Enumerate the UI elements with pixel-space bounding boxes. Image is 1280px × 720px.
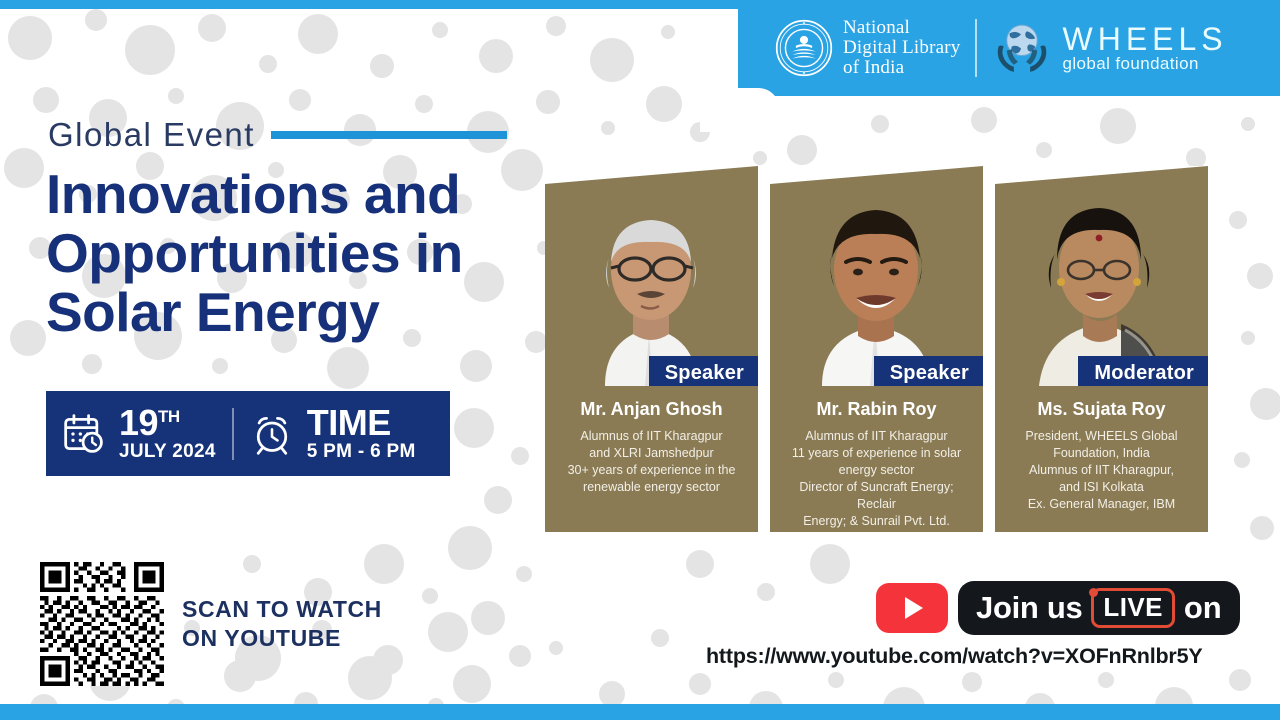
ndl-seal-icon bbox=[775, 19, 833, 77]
play-triangle-icon bbox=[905, 597, 923, 619]
speaker-description: President, WHEELS Global Foundation, Ind… bbox=[1005, 428, 1198, 513]
ndl-logo: National Digital Library of India bbox=[775, 18, 961, 78]
youtube-icon[interactable] bbox=[876, 583, 948, 633]
kicker-row: Global Event bbox=[48, 116, 507, 154]
portrait-rabin-roy bbox=[770, 166, 983, 386]
ndl-line-2: Digital Library bbox=[843, 38, 961, 58]
speaker-badge: Speaker bbox=[874, 356, 983, 386]
speaker-card: Speaker Mr. Rabin Roy Alumnus of IIT Kha… bbox=[770, 166, 983, 532]
date-text: 19 TH JULY 2024 bbox=[119, 405, 216, 463]
wheels-title: WHEELS bbox=[1063, 24, 1228, 54]
moderator-badge: Moderator bbox=[1078, 356, 1208, 386]
speaker-card: Moderator Ms. Sujata Roy President, WHEE… bbox=[995, 166, 1208, 532]
date-day: 19 bbox=[119, 405, 158, 441]
speaker-info: Ms. Sujata Roy President, WHEELS Global … bbox=[995, 386, 1208, 532]
wheels-logo: WHEELS global foundation bbox=[991, 20, 1228, 76]
time-block: TIME 5 PM - 6 PM bbox=[234, 405, 432, 463]
speaker-name: Mr. Anjan Ghosh bbox=[555, 399, 748, 420]
date-suffix: TH bbox=[158, 405, 180, 426]
qr-caption-line-1: SCAN TO WATCH bbox=[182, 595, 382, 624]
live-badge: LIVE bbox=[1091, 588, 1174, 628]
speaker-info: Mr. Rabin Roy Alumnus of IIT Kharagpur 1… bbox=[770, 386, 983, 532]
qr-section: SCAN TO WATCH ON YOUTUBE bbox=[40, 562, 382, 686]
calendar-icon bbox=[62, 412, 106, 456]
join-us-label: Join us bbox=[976, 590, 1082, 626]
speaker-photo: Speaker bbox=[770, 166, 983, 386]
speaker-photo: Moderator bbox=[995, 166, 1208, 386]
portrait-anjan-ghosh bbox=[545, 166, 758, 386]
time-text: TIME 5 PM - 6 PM bbox=[307, 405, 416, 463]
speaker-name: Ms. Sujata Roy bbox=[1005, 399, 1198, 420]
date-month-year: JULY 2024 bbox=[119, 441, 216, 463]
date-block: 19 TH JULY 2024 bbox=[46, 405, 232, 463]
speaker-cards: Speaker Mr. Anjan Ghosh Alumnus of IIT K… bbox=[545, 166, 1208, 532]
globe-in-hands-icon bbox=[991, 20, 1053, 76]
speaker-description: Alumnus of IIT Kharagpur 11 years of exp… bbox=[780, 428, 973, 530]
alarm-clock-icon bbox=[250, 412, 294, 456]
qr-caption-line-2: ON YOUTUBE bbox=[182, 624, 382, 653]
kicker-underline bbox=[271, 131, 507, 139]
speaker-photo: Speaker bbox=[545, 166, 758, 386]
speaker-badge: Speaker bbox=[649, 356, 758, 386]
top-blue-strip bbox=[0, 0, 1280, 9]
page-title: Innovations and Opportunities in Solar E… bbox=[46, 165, 566, 342]
event-poster: National Digital Library of India WHEELS… bbox=[0, 0, 1280, 720]
youtube-cta-row[interactable]: Join us LIVE on bbox=[876, 581, 1240, 635]
schedule-bar: 19 TH JULY 2024 TIME 5 PM - 6 PM bbox=[46, 391, 450, 476]
ndl-line-3: of India bbox=[843, 58, 961, 78]
panel-rounded-corner bbox=[700, 88, 780, 132]
time-label: TIME bbox=[307, 405, 416, 441]
logo-divider bbox=[975, 19, 977, 77]
bottom-blue-strip bbox=[0, 704, 1280, 720]
wheels-logo-text: WHEELS global foundation bbox=[1063, 24, 1228, 73]
speaker-info: Mr. Anjan Ghosh Alumnus of IIT Kharagpur… bbox=[545, 386, 758, 532]
on-label: on bbox=[1184, 590, 1222, 626]
ndl-line-1: National bbox=[843, 18, 961, 38]
speaker-name: Mr. Rabin Roy bbox=[780, 399, 973, 420]
date-day-row: 19 TH bbox=[119, 405, 216, 441]
join-live-pill[interactable]: Join us LIVE on bbox=[958, 581, 1240, 635]
header-logos: National Digital Library of India WHEELS… bbox=[775, 10, 1228, 86]
qr-caption: SCAN TO WATCH ON YOUTUBE bbox=[182, 595, 382, 653]
time-range: 5 PM - 6 PM bbox=[307, 441, 416, 463]
speaker-card: Speaker Mr. Anjan Ghosh Alumnus of IIT K… bbox=[545, 166, 758, 532]
speaker-description: Alumnus of IIT Kharagpur and XLRI Jamshe… bbox=[555, 428, 748, 496]
portrait-sujata-roy bbox=[995, 166, 1208, 386]
kicker-label: Global Event bbox=[48, 116, 255, 154]
youtube-url[interactable]: https://www.youtube.com/watch?v=XOFnRnlb… bbox=[706, 644, 1203, 669]
qr-code[interactable] bbox=[40, 562, 164, 686]
ndl-logo-text: National Digital Library of India bbox=[843, 18, 961, 78]
